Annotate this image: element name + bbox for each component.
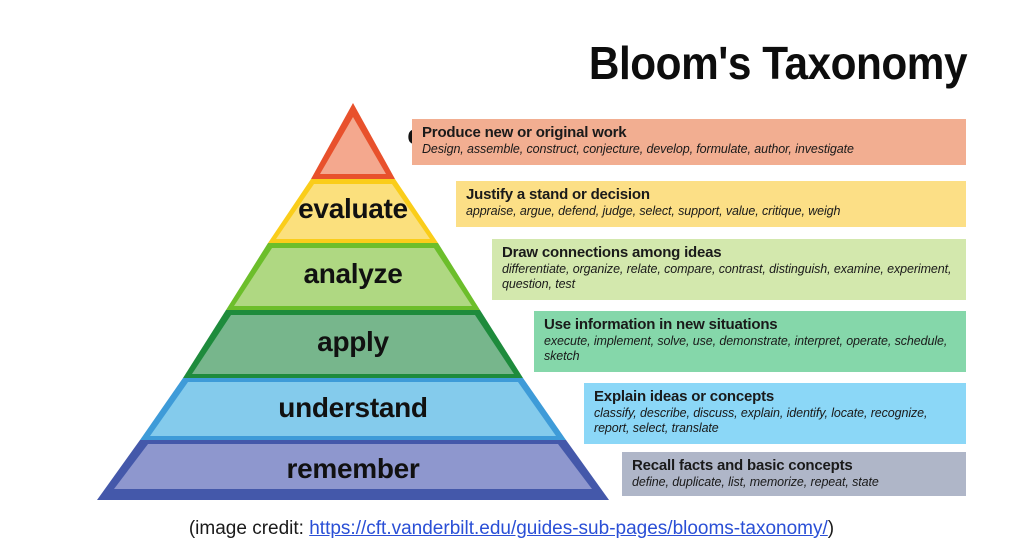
callout-evaluate: Justify a stand or decision appraise, ar… xyxy=(456,181,966,227)
callout-analyze-verbs: differentiate, organize, relate, compare… xyxy=(502,262,966,291)
callout-evaluate-headline: Justify a stand or decision xyxy=(466,186,966,203)
callout-understand-verbs: classify, describe, discuss, explain, id… xyxy=(594,406,966,435)
callout-create-verbs: Design, assemble, construct, conjecture,… xyxy=(422,142,966,157)
page-title: Bloom's Taxonomy xyxy=(589,38,967,88)
pyramid-label-understand: understand xyxy=(178,392,528,424)
bloems-taxonomy-diagram: Bloom's Taxonomy xyxy=(0,0,1023,559)
callout-create-headline: Produce new or original work xyxy=(422,124,966,141)
callout-understand: Explain ideas or concepts classify, desc… xyxy=(584,383,966,444)
image-credit-suffix: ) xyxy=(828,518,834,539)
pyramid-label-analyze: analyze xyxy=(178,258,528,290)
callout-analyze-headline: Draw connections among ideas xyxy=(502,244,966,261)
image-credit-link[interactable]: https://cft.vanderbilt.edu/guides-sub-pa… xyxy=(309,518,828,539)
callout-remember-verbs: define, duplicate, list, memorize, repea… xyxy=(632,475,966,490)
callout-apply-verbs: execute, implement, solve, use, demonstr… xyxy=(544,334,966,363)
image-credit-prefix: (image credit: xyxy=(189,518,309,539)
callout-evaluate-verbs: appraise, argue, defend, judge, select, … xyxy=(466,204,966,219)
callout-analyze: Draw connections among ideas differentia… xyxy=(492,239,966,300)
callout-remember: Recall facts and basic concepts define, … xyxy=(622,452,966,496)
callout-understand-headline: Explain ideas or concepts xyxy=(594,388,966,405)
callout-remember-headline: Recall facts and basic concepts xyxy=(632,457,966,474)
callout-create: Produce new or original work Design, ass… xyxy=(412,119,966,165)
callout-apply: Use information in new situations execut… xyxy=(534,311,966,372)
callout-apply-headline: Use information in new situations xyxy=(544,316,966,333)
pyramid-label-remember: remember xyxy=(178,453,528,485)
image-credit: (image credit: https://cft.vanderbilt.ed… xyxy=(0,518,1023,540)
pyramid-label-apply: apply xyxy=(178,326,528,358)
